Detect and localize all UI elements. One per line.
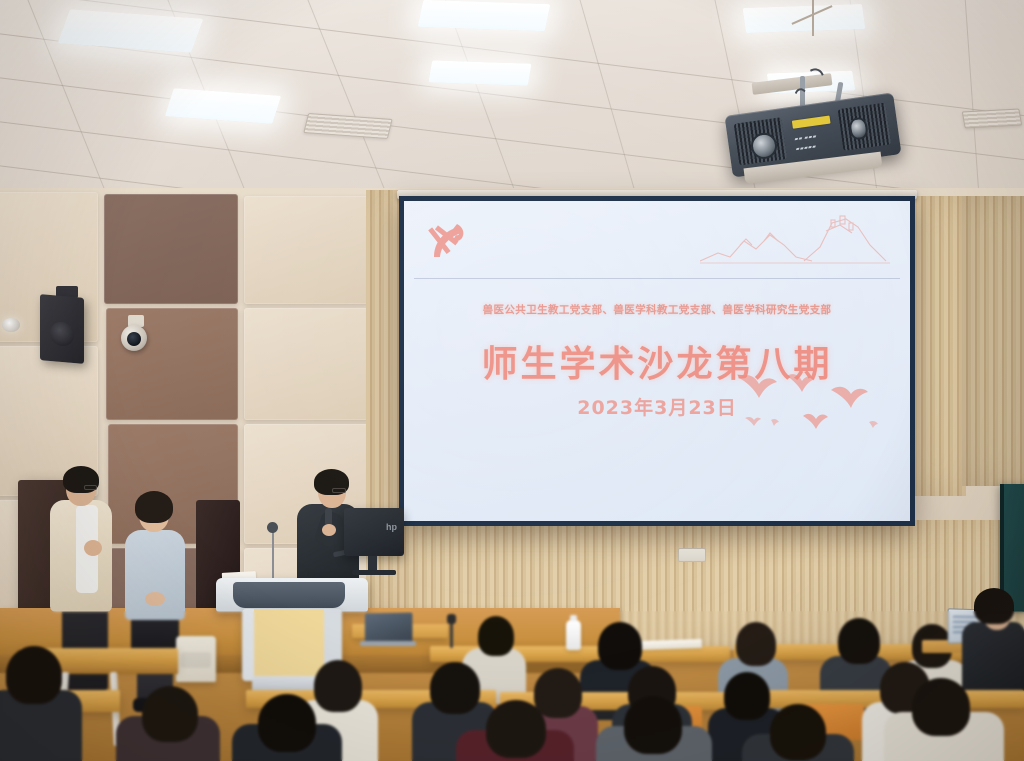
- ceiling-cable: [812, 0, 814, 36]
- gooseneck-microphone-stand: [272, 528, 274, 582]
- gooseneck-microphone-head: [267, 522, 278, 533]
- head: [724, 672, 770, 720]
- hand: [322, 524, 336, 536]
- desk-microphone: [450, 622, 453, 648]
- eyeglasses: [84, 485, 97, 490]
- slide-title: 师生学术沙龙第八期: [404, 335, 910, 387]
- skirt: [131, 616, 179, 650]
- wall-panel: [104, 194, 238, 304]
- head: [770, 704, 826, 760]
- head: [486, 700, 546, 758]
- head: [838, 618, 880, 664]
- water-bottle: [566, 620, 581, 650]
- ceiling-light-panel: [428, 60, 531, 85]
- head: [258, 694, 316, 752]
- wood-slat-wall-right: [908, 196, 966, 496]
- ceiling-air-vent: [962, 108, 1022, 128]
- projection-screen: 兽医公共卫生教工党支部、兽医学科教工党支部、兽医学科研究生党支部 师生学术沙龙第…: [399, 196, 915, 526]
- hp-monitor: [344, 508, 404, 556]
- grey-coat: [125, 530, 185, 620]
- monitor-stand-base: [352, 570, 396, 575]
- wall-socket-plate: [678, 548, 706, 562]
- hands: [84, 540, 102, 556]
- head: [430, 662, 480, 714]
- ceiling-projector: ▰▰ ▰▰▰ ▰▰▰▰▰: [728, 74, 918, 184]
- head: [598, 622, 642, 670]
- eyeglasses: [332, 488, 346, 493]
- head: [736, 622, 776, 666]
- wall-panel: [244, 308, 370, 420]
- projector-warning-label: [792, 116, 831, 129]
- hands: [145, 592, 165, 606]
- wall-speaker: [40, 294, 84, 364]
- wood-slat-wall-upper-right: [962, 196, 1024, 486]
- head: [314, 660, 362, 712]
- lecture-hall-photo: ▰▰ ▰▰▰ ▰▰▰▰▰: [0, 0, 1024, 761]
- wall-light-fixture: [2, 318, 20, 332]
- head: [142, 686, 198, 742]
- great-wall-mountain-line-art: [700, 211, 890, 269]
- laptop-keyboard-base: [360, 641, 416, 646]
- cpc-hammer-sickle-emblem: [427, 217, 473, 267]
- projector-brand-badge: ▰▰▰▰▰: [795, 144, 816, 153]
- head: [534, 668, 582, 718]
- hair: [135, 491, 173, 523]
- slide-subtitle: 兽医公共卫生教工党支部、兽医学科教工党支部、兽医学科研究生党支部: [404, 302, 910, 317]
- laptop-screen: [365, 613, 413, 644]
- dark-jacket: [962, 622, 1024, 696]
- ceiling-light-panel: [418, 0, 551, 31]
- slide-divider-line: [414, 278, 900, 279]
- wall-panel: [106, 308, 238, 420]
- plastic-stool: [176, 636, 216, 682]
- head: [6, 646, 62, 704]
- hair: [974, 588, 1014, 624]
- head: [478, 616, 514, 656]
- projector-brand-badge: ▰▰ ▰▰▰: [794, 134, 817, 143]
- slide-date: 2023年3月23日: [404, 393, 910, 420]
- presentation-slide: 兽医公共卫生教工党支部、兽医学科教工党支部、兽医学科研究生党支部 师生学术沙龙第…: [404, 201, 910, 521]
- head: [912, 678, 970, 736]
- security-camera: [121, 325, 147, 351]
- lectern-control-panel: [233, 582, 345, 608]
- wall-panel: [244, 196, 370, 304]
- head: [624, 696, 682, 754]
